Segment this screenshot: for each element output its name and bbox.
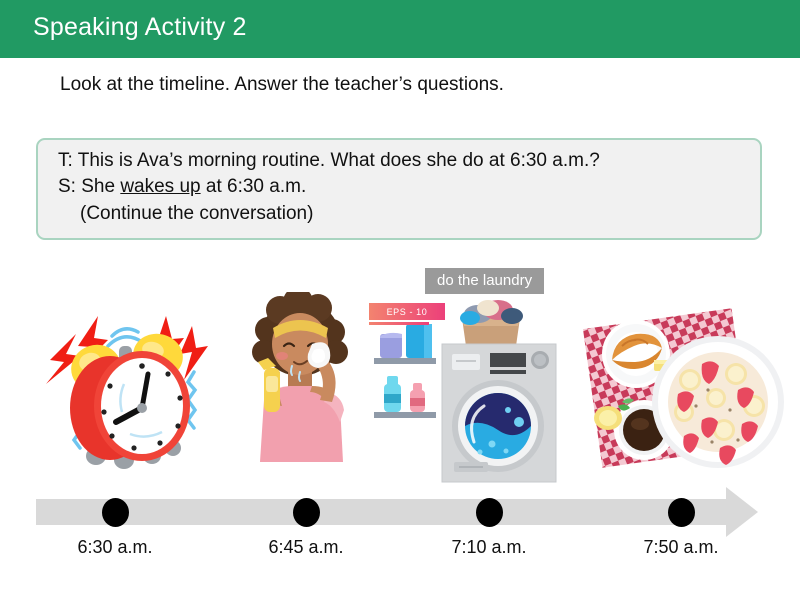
student-line-answer: wakes up: [120, 176, 200, 197]
student-line: S: She wakes up at 6:30 a.m.: [58, 176, 306, 198]
dialogue-box: T: This is Ava’s morning routine. What d…: [36, 138, 762, 240]
instruction-text: Look at the timeline. Answer the teacher…: [60, 74, 504, 96]
eps-watermark-badge: EPS - 10: [369, 303, 445, 320]
continue-note: (Continue the conversation): [80, 203, 313, 225]
timeline-dot-2[interactable]: [293, 498, 320, 527]
washing-face-icon: [228, 292, 368, 486]
timeline-label-4: 7:50 a.m.: [643, 537, 718, 558]
illustration-breakfast: [578, 302, 788, 482]
illustration-wash-face: [228, 292, 368, 486]
student-line-prefix: S: She: [58, 176, 120, 197]
timeline-label-1: 6:30 a.m.: [77, 537, 152, 558]
timeline-label-3: 7:10 a.m.: [451, 537, 526, 558]
timeline-dot-1[interactable]: [102, 498, 129, 527]
page-title: Speaking Activity 2: [33, 13, 247, 42]
timeline-bar: [36, 499, 726, 525]
timeline-arrow-head: [726, 487, 758, 537]
timeline-label-2: 6:45 a.m.: [268, 537, 343, 558]
timeline-dot-3[interactable]: [476, 498, 503, 527]
timeline-dot-4[interactable]: [668, 498, 695, 527]
illustration-laundry: do the laundry EPS - 10: [366, 296, 581, 486]
teacher-line: T: This is Ava’s morning routine. What d…: [58, 150, 600, 172]
breakfast-icon: [578, 302, 788, 482]
eps-watermark-underline: [369, 322, 429, 325]
laundry-label-badge: do the laundry: [425, 268, 544, 294]
illustration-alarm-clock: [28, 288, 218, 486]
alarm-clock-icon: [28, 288, 218, 486]
student-line-suffix: at 6:30 a.m.: [201, 176, 307, 197]
slide-root: Speaking Activity 2 Look at the timeline…: [0, 0, 800, 600]
